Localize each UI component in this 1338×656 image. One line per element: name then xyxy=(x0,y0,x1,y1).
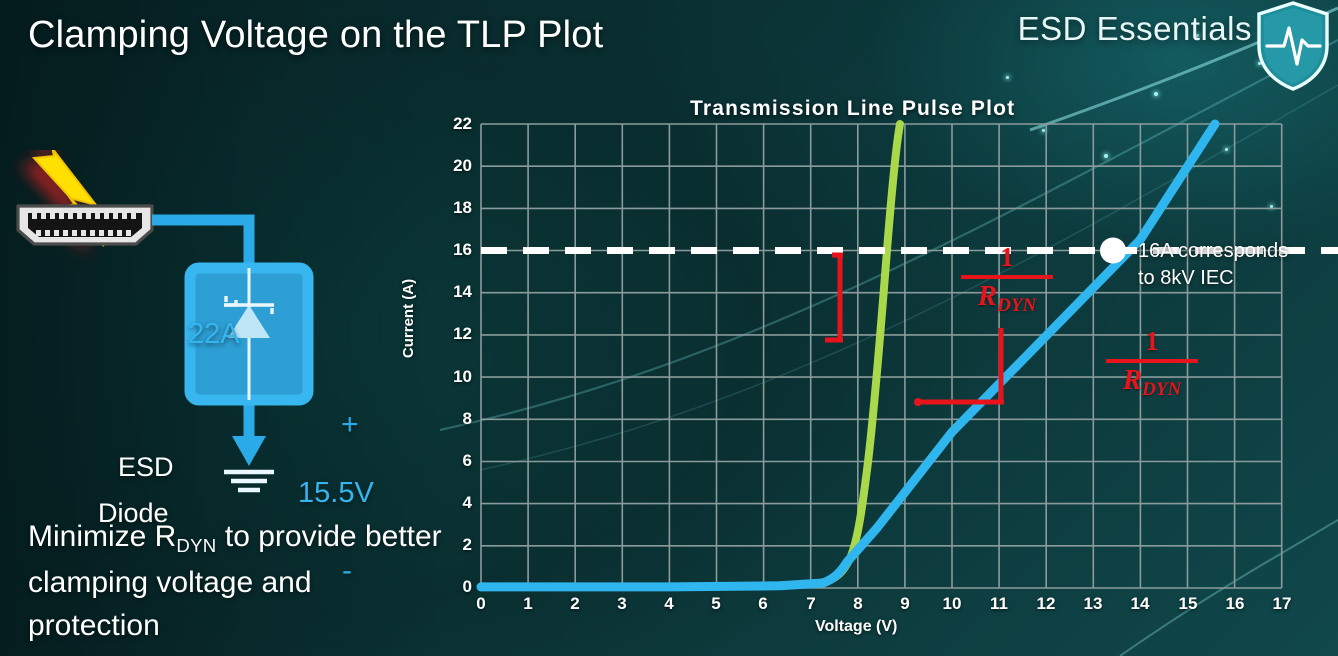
summary-subscript: DYN xyxy=(176,535,216,556)
slope-1-denominator: RDYN xyxy=(955,281,1059,311)
chart-x-axis-label: Voltage (V) xyxy=(815,618,897,636)
callout-line-2: to 8kV IEC xyxy=(1138,265,1288,292)
polarity-plus-label: + xyxy=(341,408,359,442)
page-title: Clamping Voltage on the TLP Plot xyxy=(28,14,603,57)
component-label-line1: ESD xyxy=(118,452,174,483)
slope-2-denominator: RDYN xyxy=(1100,365,1204,395)
threshold-callout: 16A corresponds to 8kV IEC xyxy=(1138,238,1288,292)
slope-2-den-sub: DYN xyxy=(1142,379,1181,400)
current-label: 22A xyxy=(188,318,240,351)
hdmi-connector-icon xyxy=(18,206,152,244)
brand-label: ESD Essentials xyxy=(1018,10,1252,48)
slope-1-den-main: R xyxy=(978,280,997,312)
slope-marker-2-start-dot xyxy=(914,398,922,406)
fraction-bar-icon xyxy=(961,275,1053,279)
tlp-chart: Transmission Line Pulse Plot Current (A)… xyxy=(400,90,1338,656)
slope-1-den-sub: DYN xyxy=(997,295,1036,316)
slope-1-numerator: 1 xyxy=(955,244,1059,271)
slope-annotation-1: 1 RDYN xyxy=(955,244,1059,311)
slope-marker-1 xyxy=(825,255,843,340)
spark-dot xyxy=(1006,76,1009,79)
ground-symbol-icon xyxy=(224,436,274,490)
slope-2-numerator: 1 xyxy=(1100,328,1204,355)
slope-2-den-main: R xyxy=(1123,364,1142,396)
slope-annotation-2: 1 RDYN xyxy=(1100,328,1204,395)
voltage-label: 15.5V xyxy=(298,477,374,510)
summary-text: Minimize RDYN to provide better clamping… xyxy=(28,515,448,647)
shield-heartbeat-icon xyxy=(1254,0,1332,92)
threshold-marker-point xyxy=(1100,238,1126,264)
esd-circuit-diagram: 22A ESD Diode 15.5V + - xyxy=(0,150,430,510)
fraction-bar-icon xyxy=(1106,359,1198,363)
slide-canvas: Clamping Voltage on the TLP Plot ESD Ess… xyxy=(0,0,1338,656)
callout-line-1: 16A corresponds xyxy=(1138,238,1288,265)
summary-part1: Minimize R xyxy=(28,520,176,553)
series-line-low-rdyn xyxy=(481,124,900,587)
